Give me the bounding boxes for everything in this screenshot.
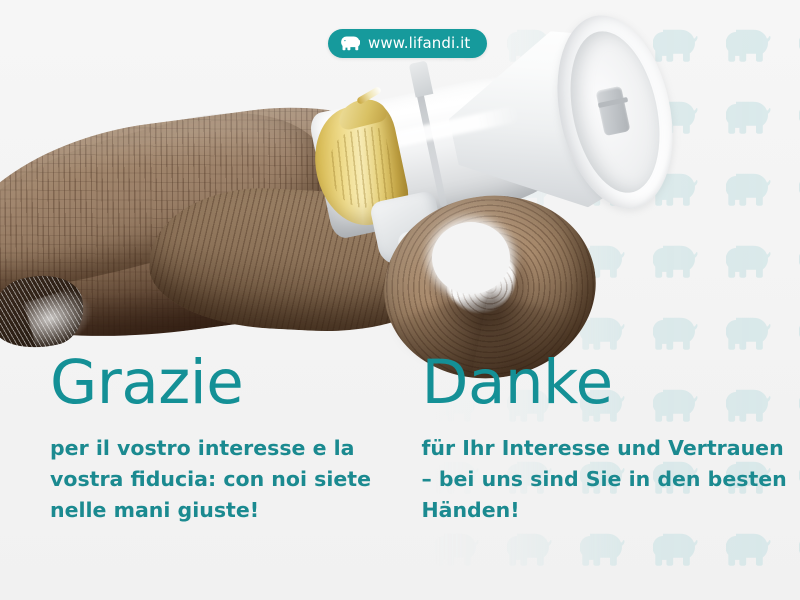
elephant-icon (341, 36, 360, 51)
body-italian: per il vostro interesse e la vostra fidu… (50, 433, 376, 526)
column-german: Danke für Ihr Interesse und Vertrauen – … (376, 352, 800, 526)
elephant-trunk-coil-hole (432, 222, 510, 294)
column-italian: Grazie per il vostro interesse e la vost… (0, 352, 376, 526)
headline-german: Danke (421, 352, 800, 413)
poster-canvas: www.lifandi.it Grazie per il vostro inte… (0, 0, 800, 600)
headline-italian: Grazie (50, 352, 376, 413)
message-columns: Grazie per il vostro interesse e la vost… (0, 352, 800, 526)
website-badge[interactable]: www.lifandi.it (328, 29, 487, 58)
website-url-text: www.lifandi.it (368, 36, 470, 51)
body-german: für Ihr Interesse und Vertrauen – bei un… (421, 433, 800, 526)
